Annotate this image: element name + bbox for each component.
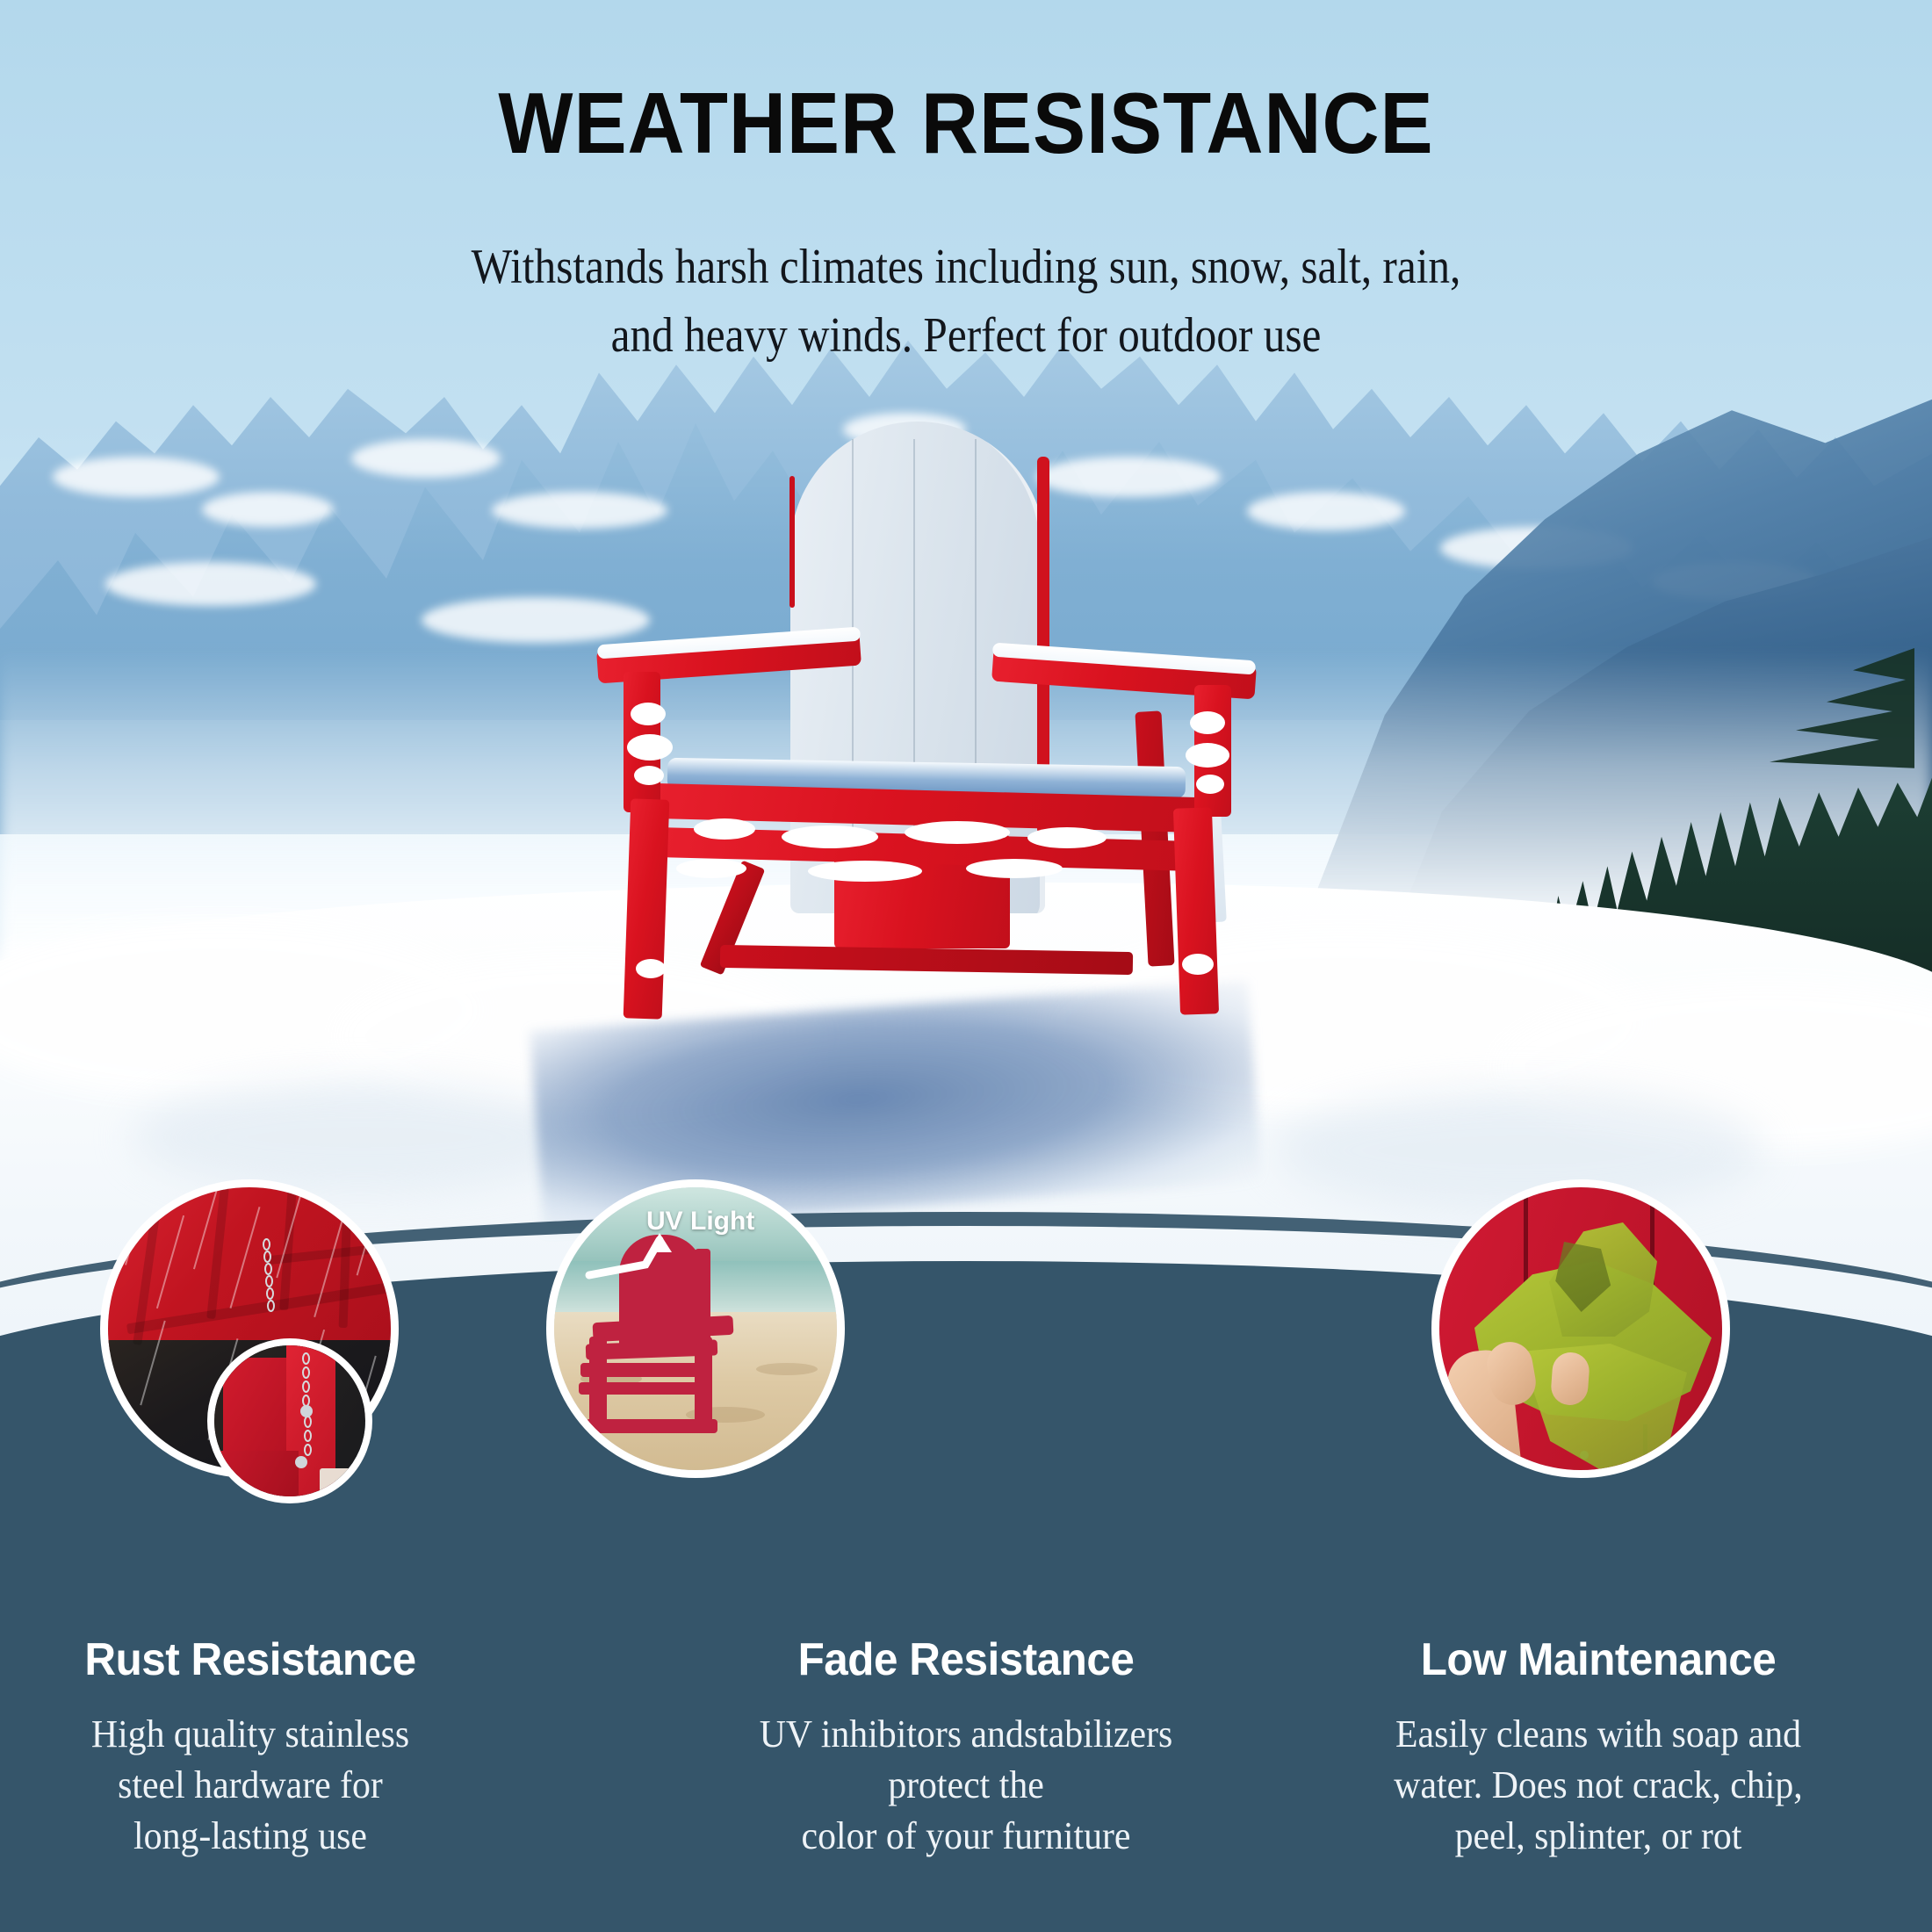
uv-light-arrow-icon [584, 1226, 689, 1296]
infographic-canvas: UV Light WEATHER RESISTANCE Withstands h… [0, 0, 1932, 1932]
feature-title-low-maintenance: Low Maintenance [1365, 1633, 1832, 1686]
feature-body-line: peel, splinter, or rot [1365, 1811, 1832, 1862]
feature-body-line: protect the [732, 1760, 1200, 1811]
feature-body-line: color of your furniture [732, 1811, 1200, 1862]
feature-column-rust-resistance: Rust Resistance High quality stainless s… [4, 1633, 496, 1862]
subtitle-line-2: and heavy winds. Perfect for outdoor use [116, 301, 1816, 370]
feature-body-line: long-lasting use [17, 1811, 484, 1862]
page-title: WEATHER RESISTANCE [77, 74, 1855, 173]
uv-light-label: UV Light [646, 1207, 754, 1236]
feature-body-line: High quality stainless [17, 1709, 484, 1760]
feature-body-line: steel hardware for [17, 1760, 484, 1811]
feature-image-rust-inset [207, 1338, 372, 1503]
feature-title-rust-resistance: Rust Resistance [17, 1633, 484, 1686]
feature-body-line: water. Does not crack, chip, [1365, 1760, 1832, 1811]
feature-body-line: UV inhibitors andstabilizers [732, 1709, 1200, 1760]
feature-body-low-maintenance: Easily cleans with soap and water. Does … [1365, 1709, 1832, 1862]
feature-body-fade-resistance: UV inhibitors andstabilizers protect the… [732, 1709, 1200, 1862]
feature-column-fade-resistance: Fade Resistance UV inhibitors andstabili… [720, 1633, 1212, 1862]
page-subtitle: Withstands harsh climates including sun,… [116, 233, 1816, 370]
feature-image-low-maintenance [1431, 1179, 1730, 1478]
feature-title-fade-resistance: Fade Resistance [732, 1633, 1200, 1686]
feature-body-line: Easily cleans with soap and [1365, 1709, 1832, 1760]
feature-column-low-maintenance: Low Maintenance Easily cleans with soap … [1352, 1633, 1844, 1862]
feature-body-rust-resistance: High quality stainless steel hardware fo… [17, 1709, 484, 1862]
subtitle-line-1: Withstands harsh climates including sun,… [116, 233, 1816, 301]
